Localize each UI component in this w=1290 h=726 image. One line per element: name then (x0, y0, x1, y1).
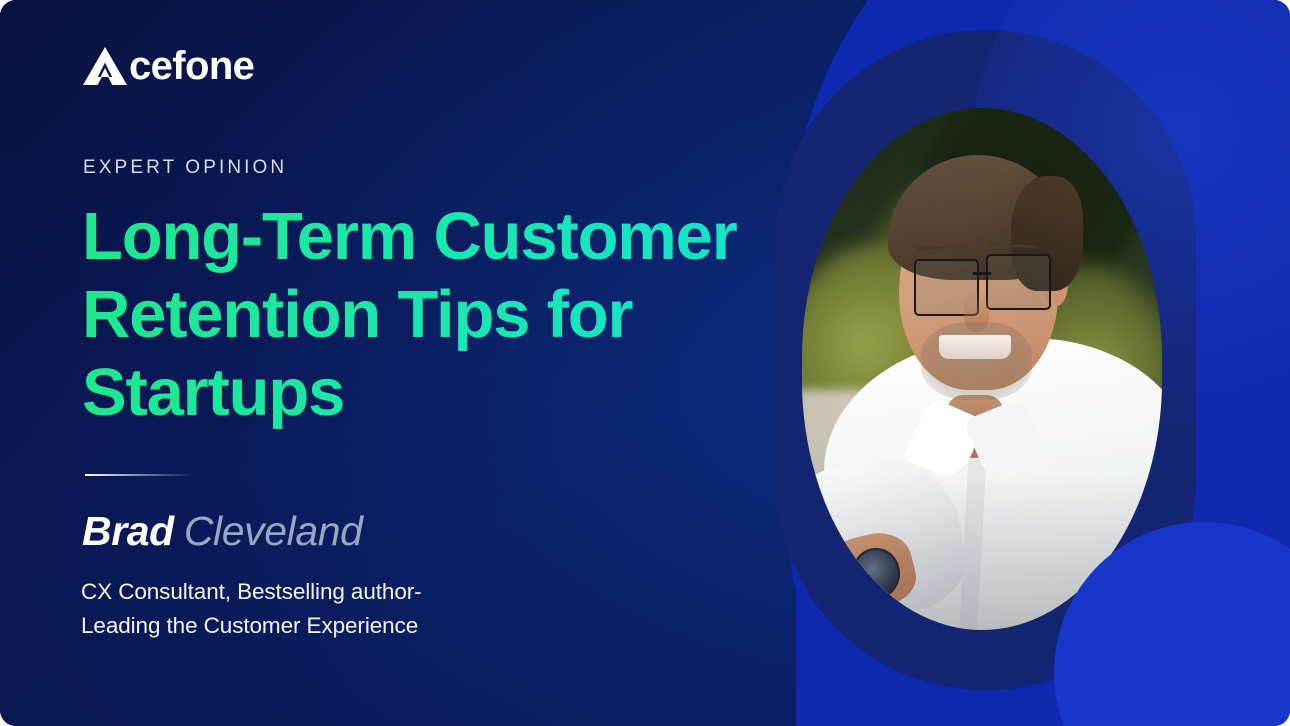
eyebrow-label: EXPERT OPINION (83, 157, 287, 179)
portrait-vignette (802, 108, 1162, 630)
expert-opinion-banner: cefone EXPERT OPINION Long-Term Customer… (0, 0, 1290, 726)
acefone-a-mark-icon (82, 46, 128, 86)
avatar (802, 108, 1162, 630)
author-last-name: Cleveland (184, 508, 363, 554)
brand-wordmark: cefone (129, 46, 254, 86)
author-role: CX Consultant, Bestselling author- Leadi… (81, 575, 551, 643)
brand-logo[interactable]: cefone (82, 46, 254, 86)
portrait-decoration-panel (770, 0, 1290, 726)
author-role-line-1: CX Consultant, Bestselling author- (81, 575, 551, 609)
divider (85, 474, 193, 476)
page-title: Long-Term Customer Retention Tips for St… (82, 198, 842, 432)
author-name: BradCleveland (82, 508, 363, 555)
author-role-line-2: Leading the Customer Experience (81, 609, 551, 643)
author-first-name: Brad (82, 508, 174, 554)
